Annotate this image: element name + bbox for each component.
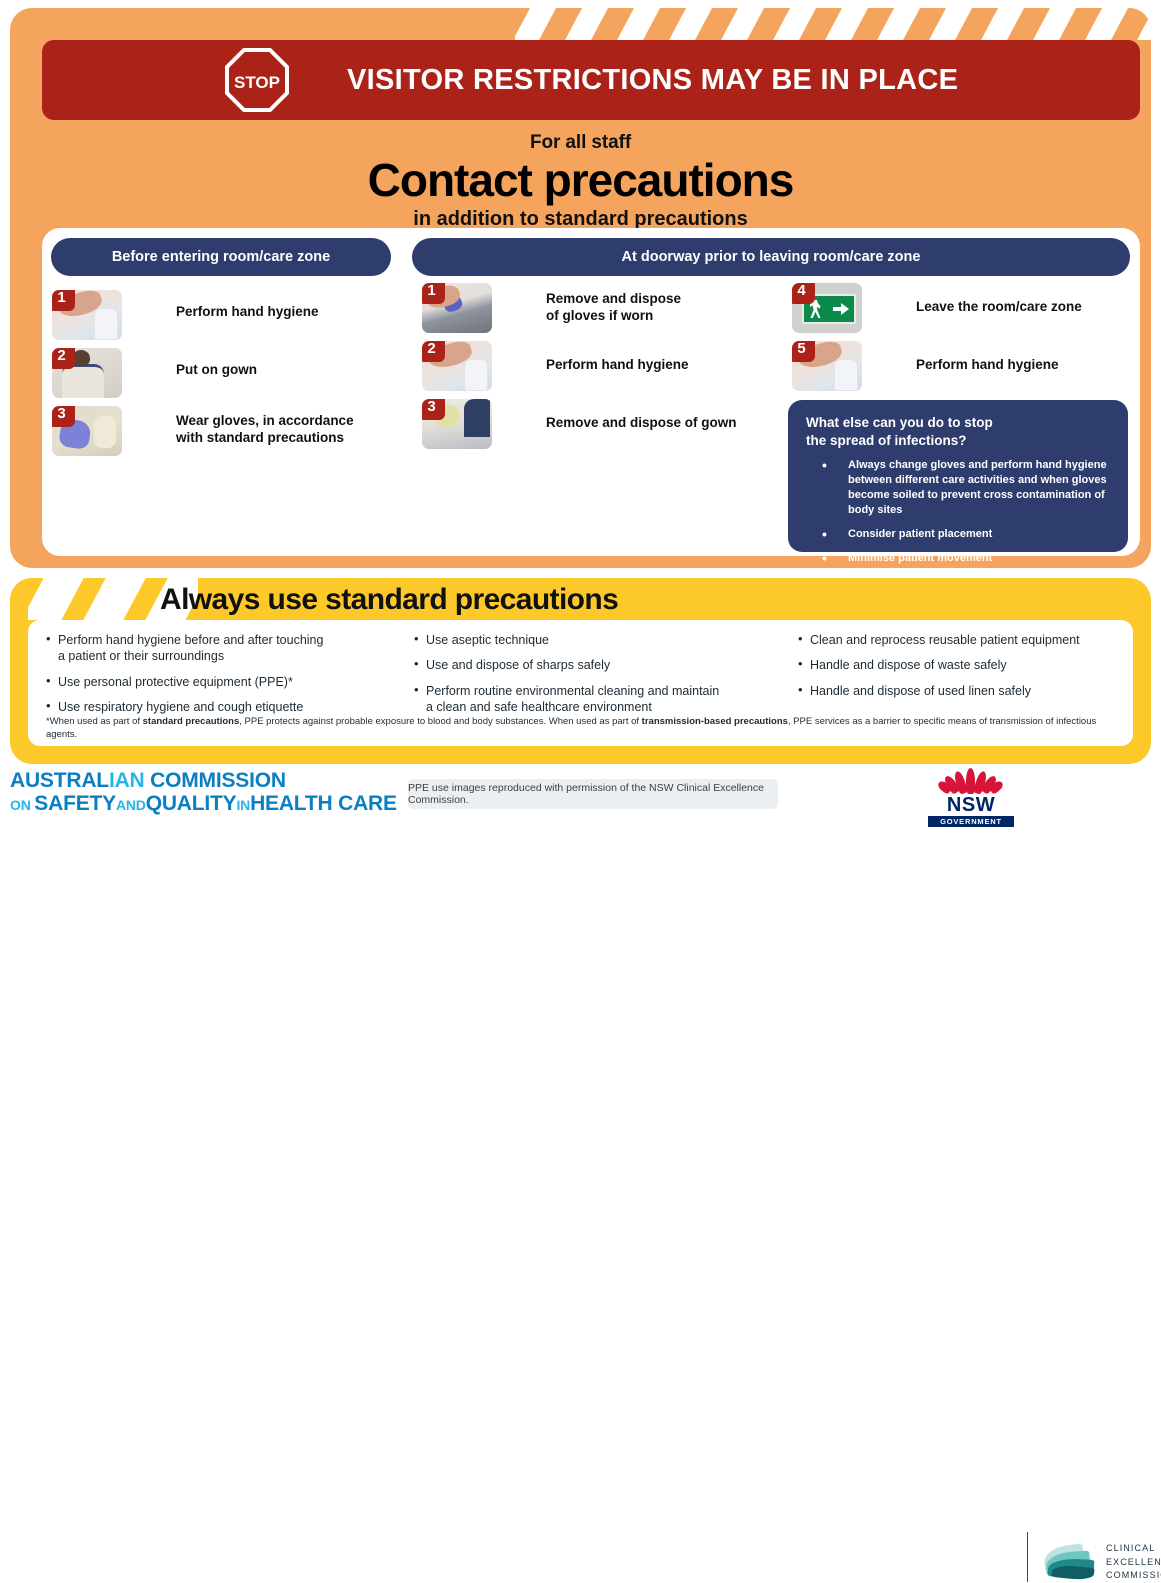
step-before-3: 3 Wear gloves, in accordance with standa… [52, 406, 354, 456]
footer-divider [1027, 1532, 1028, 1582]
acsqhc-logo: AUSTRALIAN COMMISSION ON SAFETYANDQUALIT… [10, 770, 397, 815]
put-on-gown-photo: 2 [52, 348, 122, 398]
image-credit-text: PPE use images reproduced with permissio… [408, 782, 778, 806]
precaution-item: Clean and reprocess reusable patient equ… [798, 632, 1128, 648]
stripe-bar [28, 578, 88, 620]
step-number-badge: 5 [792, 341, 815, 362]
wear-gloves-photo: 3 [52, 406, 122, 456]
step-doorway-5: 5 Perform hand hygiene [792, 341, 1059, 391]
precaution-item: Use and dispose of sharps safely [414, 657, 774, 673]
logo-text: ON [10, 797, 34, 813]
hand-hygiene-photo: 2 [422, 341, 492, 391]
step-number-badge: 4 [792, 283, 815, 304]
cec-line-1: CLINICAL [1106, 1542, 1161, 1556]
precaution-item: Handle and dispose of used linen safely [798, 683, 1128, 699]
logo-text: COMMISSION [145, 769, 286, 792]
step-number-badge: 2 [52, 348, 75, 369]
info-box-list: Always change gloves and perform hand hy… [806, 458, 1112, 565]
info-bullet: Minimise patient movement [806, 551, 1112, 566]
footnote-part-1: *When used as part of [46, 716, 143, 727]
precautions-column-1: Perform hand hygiene before and after to… [46, 632, 376, 724]
info-bullet: Always change gloves and perform hand hy… [806, 458, 1112, 517]
cec-logo: CLINICAL EXCELLENCE COMMISSION [1042, 1542, 1161, 1583]
step-doorway-4: 4 Leave the room/care zone [792, 283, 1082, 333]
precaution-item: Perform hand hygiene before and after to… [46, 632, 376, 665]
logo-text: HEALTH CARE [250, 792, 397, 815]
stripe-bar [639, 8, 689, 40]
step-doorway-1: 1 Remove and dispose of gloves if worn [422, 283, 681, 333]
footnote-bold-1: standard precautions [143, 716, 240, 727]
step-before-2: 2 Put on gown [52, 348, 257, 398]
precaution-item: Use aseptic technique [414, 632, 774, 648]
stripe-bar [1003, 8, 1053, 40]
stripe-bar [691, 8, 741, 40]
stripe-bar [1107, 8, 1151, 40]
step-label: Remove and dispose of gown [546, 415, 737, 432]
step-number-badge: 3 [52, 406, 75, 427]
column-header-doorway: At doorway prior to leaving room/care zo… [412, 238, 1130, 276]
hand-hygiene-photo: 1 [52, 290, 122, 340]
cec-line-3: COMMISSION [1106, 1569, 1161, 1583]
stripe-bar [795, 8, 845, 40]
title-eyebrow: For all staff [10, 132, 1151, 154]
info-box-title: What else can you do to stop the spread … [806, 414, 1112, 450]
column-header-before: Before entering room/care zone [51, 238, 391, 276]
logo-text: SAFETY [34, 792, 116, 815]
hand-hygiene-photo: 5 [792, 341, 862, 391]
step-label: Perform hand hygiene [916, 357, 1059, 374]
precaution-item: Use respiratory hygiene and cough etique… [46, 699, 376, 715]
info-bullet: Consider patient placement [806, 527, 1112, 542]
image-credit-box: PPE use images reproduced with permissio… [408, 779, 778, 809]
stripe-bar [587, 8, 637, 40]
stripe-bar [515, 8, 533, 40]
precaution-item: Handle and dispose of waste safely [798, 657, 1128, 673]
step-number-badge: 2 [422, 341, 445, 362]
logo-text: QUALITY [146, 792, 237, 815]
precaution-item: Perform routine environmental cleaning a… [414, 683, 774, 716]
step-number-badge: 3 [422, 399, 445, 420]
precaution-item: Use personal protective equipment (PPE)* [46, 674, 376, 690]
standard-precautions-card: Perform hand hygiene before and after to… [28, 620, 1133, 746]
step-label: Wear gloves, in accordance with standard… [176, 413, 354, 447]
stop-sign-icon: STOP [225, 48, 289, 112]
stripe-bar [847, 8, 897, 40]
ppe-footnote: *When used as part of standard precautio… [46, 716, 1124, 742]
step-label: Leave the room/care zone [916, 299, 1082, 316]
stop-sign-label: STOP [234, 73, 280, 92]
stripe-bar [951, 8, 1001, 40]
step-label: Put on gown [176, 362, 257, 379]
nsw-government-label: GOVERNMENT [928, 816, 1014, 827]
step-label: Perform hand hygiene [546, 357, 689, 374]
footnote-part-2: , PPE protects against probable exposure… [239, 716, 641, 727]
cec-line-2: EXCELLENCE [1106, 1556, 1161, 1570]
cec-feather-icon [1042, 1544, 1098, 1580]
stripe-bar [899, 8, 949, 40]
stripe-bar [1055, 8, 1105, 40]
remove-gown-photo: 3 [422, 399, 492, 449]
stripe-bar [743, 8, 793, 40]
logo-text: IN [236, 797, 250, 813]
standard-precautions-panel: Always use standard precautions Perform … [10, 578, 1151, 764]
waratah-icon [939, 768, 1003, 794]
step-doorway-2: 2 Perform hand hygiene [422, 341, 689, 391]
logo-text: IAN [109, 769, 145, 792]
visitor-restrictions-banner: STOP VISITOR RESTRICTIONS MAY BE IN PLAC… [42, 40, 1140, 120]
precautions-column-2: Use aseptic technique Use and dispose of… [414, 632, 774, 724]
nsw-government-logo: NSW GOVERNMENT [928, 768, 1014, 822]
step-label: Perform hand hygiene [176, 304, 319, 321]
banner-title: VISITOR RESTRICTIONS MAY BE IN PLACE [347, 40, 958, 120]
standard-precautions-title: Always use standard precautions [160, 579, 618, 621]
arrow-right-icon [833, 301, 849, 317]
stripe-bar [78, 578, 150, 620]
logo-text: AND [116, 797, 146, 813]
precautions-column-3: Clean and reprocess reusable patient equ… [798, 632, 1128, 708]
orange-diagonal-stripes [515, 8, 1151, 40]
stripe-bar [535, 8, 585, 40]
footnote-bold-2: transmission-based precautions [642, 716, 788, 727]
step-label: Remove and dispose of gloves if worn [546, 291, 681, 325]
contact-precautions-panel: STOP VISITOR RESTRICTIONS MAY BE IN PLAC… [10, 8, 1151, 568]
page-title: Contact precautions [10, 156, 1151, 204]
logo-text: AUSTRAL [10, 769, 109, 792]
step-doorway-3: 3 Remove and dispose of gown [422, 399, 737, 449]
step-number-badge: 1 [422, 283, 445, 304]
exit-sign-photo: 4 [792, 283, 862, 333]
title-block: For all staff Contact precautions in add… [10, 132, 1151, 231]
nsw-wordmark: NSW [928, 795, 1014, 815]
remove-gloves-photo: 1 [422, 283, 492, 333]
what-else-info-box: What else can you do to stop the spread … [788, 400, 1128, 552]
step-number-badge: 1 [52, 290, 75, 311]
step-before-1: 1 Perform hand hygiene [52, 290, 319, 340]
footer: AUSTRALIAN COMMISSION ON SAFETYANDQUALIT… [0, 764, 1161, 825]
